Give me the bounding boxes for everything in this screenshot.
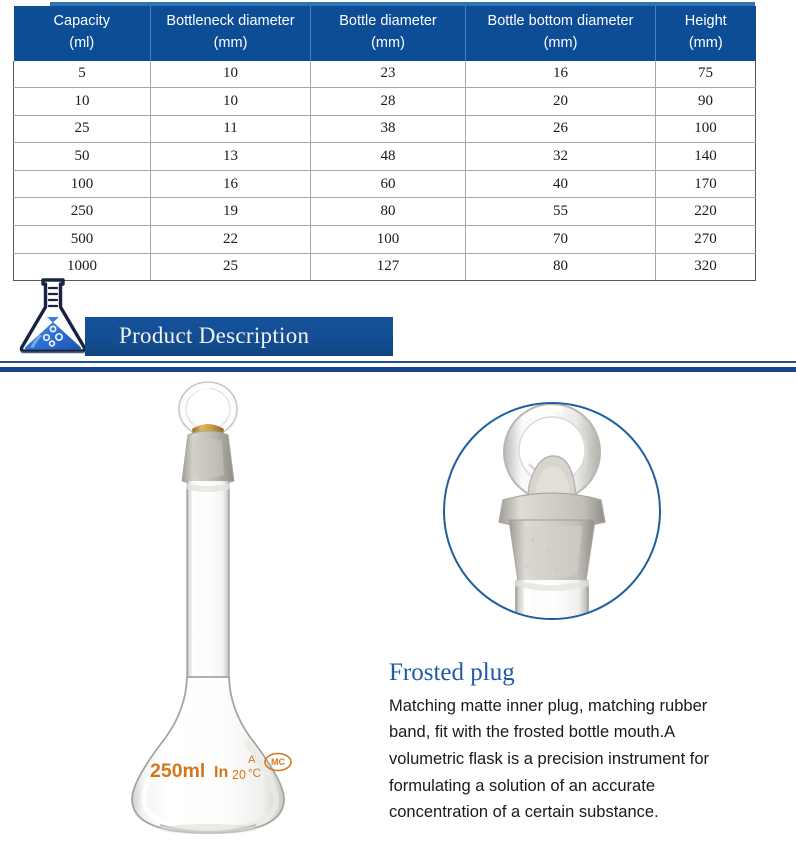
svg-text:20: 20: [232, 768, 246, 782]
svg-text:A: A: [248, 754, 256, 766]
specification-table: Capacity (ml) Bottleneck diameter (mm) B…: [13, 6, 756, 281]
table-cell: 28: [311, 88, 466, 116]
table-cell: 19: [151, 198, 311, 226]
header-line-2: (mm): [153, 33, 308, 55]
table-header-row: Capacity (ml) Bottleneck diameter (mm) B…: [14, 6, 756, 61]
volumetric-flask-photo: 250ml In 20 °C A MC: [88, 377, 328, 839]
header-line-1: Bottleneck diameter: [153, 11, 308, 33]
header-line-1: Bottle bottom diameter: [468, 11, 653, 33]
svg-text:°C: °C: [248, 768, 261, 780]
table-cell: 22: [151, 226, 311, 254]
header-line-1: Capacity: [16, 11, 149, 33]
erlenmeyer-flask-icon: [17, 277, 89, 355]
table-cell: 16: [151, 170, 311, 198]
banner-title-bar: Product Description: [85, 317, 393, 356]
banner-rule-thin: [0, 361, 796, 363]
header-line-1: Bottle diameter: [313, 11, 463, 33]
header-line-1: Height: [658, 11, 754, 33]
table-cell: 23: [311, 61, 466, 88]
table-cell: 90: [656, 88, 756, 116]
svg-text:250ml: 250ml: [150, 760, 205, 782]
header-line-2: (ml): [16, 33, 149, 55]
frosted-plug-inset-circle: [443, 402, 661, 620]
banner-title-text: Product Description: [119, 323, 309, 349]
table-cell: 70: [466, 226, 656, 254]
frosted-plug-photo: [443, 402, 661, 620]
svg-text:In: In: [214, 764, 228, 781]
table-row: 25113826100: [14, 115, 756, 143]
column-header-height: Height (mm): [656, 6, 756, 61]
table-top-accent-bar: [50, 2, 755, 6]
table-cell: 250: [14, 198, 151, 226]
table-cell: 170: [656, 170, 756, 198]
description-title: Frosted plug: [389, 659, 759, 687]
table-cell: 10: [14, 88, 151, 116]
table-cell: 100: [14, 170, 151, 198]
column-header-bottle-bottom-diameter: Bottle bottom diameter (mm): [466, 6, 656, 61]
table-cell: 11: [151, 115, 311, 143]
table-cell: 25: [14, 115, 151, 143]
table-cell: 10: [151, 88, 311, 116]
table-cell: 80: [311, 198, 466, 226]
header-line-2: (mm): [468, 33, 653, 55]
table-cell: 38: [311, 115, 466, 143]
table-cell: 10: [151, 61, 311, 88]
table-cell: 32: [466, 143, 656, 171]
column-header-bottleneck-diameter: Bottleneck diameter (mm): [151, 6, 311, 61]
table-cell: 5: [14, 61, 151, 88]
table-cell: 100: [311, 226, 466, 254]
svg-text:MC: MC: [271, 757, 285, 767]
table-cell: 220: [656, 198, 756, 226]
table-cell: 270: [656, 226, 756, 254]
table-row: 50134832140: [14, 143, 756, 171]
banner-rule-thick: [0, 367, 796, 372]
table-cell: 60: [311, 170, 466, 198]
table-row: 510231675: [14, 61, 756, 88]
table-cell: 55: [466, 198, 656, 226]
table-cell: 13: [151, 143, 311, 171]
table-row: 250198055220: [14, 198, 756, 226]
table-cell: 140: [656, 143, 756, 171]
frosted-plug-description: Frosted plug Matching matte inner plug, …: [389, 659, 759, 826]
table-cell: 75: [656, 61, 756, 88]
header-line-2: (mm): [313, 33, 463, 55]
product-description-banner: Product Description: [0, 277, 796, 373]
table-cell: 500: [14, 226, 151, 254]
table-cell: 100: [656, 115, 756, 143]
table-cell: 48: [311, 143, 466, 171]
table-cell: 50: [14, 143, 151, 171]
table-cell: 26: [466, 115, 656, 143]
header-line-2: (mm): [658, 33, 754, 55]
table-cell: 16: [466, 61, 656, 88]
column-header-bottle-diameter: Bottle diameter (mm): [311, 6, 466, 61]
table-row: 5002210070270: [14, 226, 756, 254]
description-body: Matching matte inner plug, matching rubb…: [389, 693, 747, 827]
column-header-capacity: Capacity (ml): [14, 6, 151, 61]
table-cell: 40: [466, 170, 656, 198]
table-cell: 20: [466, 88, 656, 116]
table-row: 1010282090: [14, 88, 756, 116]
table-body: 5102316751010282090251138261005013483214…: [14, 61, 756, 281]
table-row: 100166040170: [14, 170, 756, 198]
specification-table-container: Capacity (ml) Bottleneck diameter (mm) B…: [13, 2, 755, 281]
product-detail-section: 250ml In 20 °C A MC: [0, 373, 796, 839]
